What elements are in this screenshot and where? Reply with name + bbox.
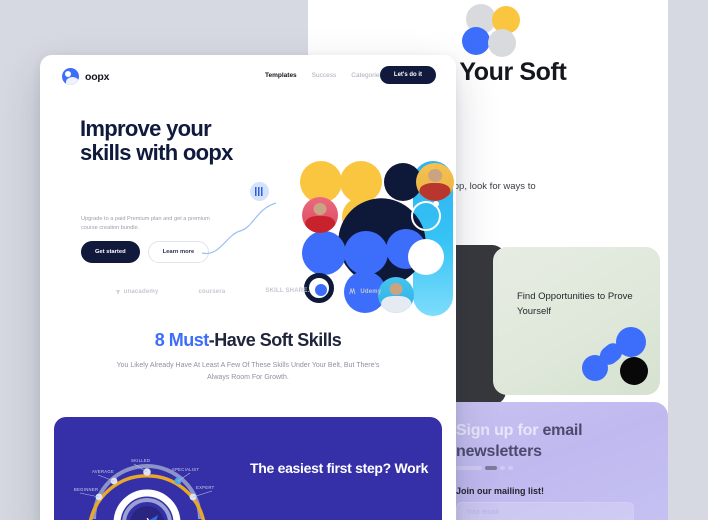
section-title-accent: 8 Must bbox=[155, 330, 209, 350]
avatar-head bbox=[428, 169, 442, 182]
collage-white-circle bbox=[408, 239, 444, 275]
gauge-label-beginner: BEGINNER bbox=[74, 487, 98, 492]
brand-logos-row: unacademy coursera SKILL SHARE. Udemy bbox=[40, 288, 456, 295]
blob-graphic bbox=[582, 327, 648, 387]
deco-circle-blue bbox=[462, 27, 490, 55]
front-landing-card: oopx Templates Success Categories Pricin… bbox=[40, 55, 456, 520]
oopx-logo-icon bbox=[62, 68, 79, 85]
newsletter-title: Sign up for email newsletters bbox=[456, 420, 651, 462]
hero-subtext: Upgrade to a paid Premium plan and get a… bbox=[81, 215, 211, 233]
collage-blue-1 bbox=[302, 231, 346, 275]
progress-dot-2 bbox=[508, 466, 513, 470]
get-started-button[interactable]: Get started bbox=[81, 241, 140, 263]
deco-circle-gray-2 bbox=[488, 29, 516, 57]
hero-title: Improve your skills with oopx bbox=[80, 117, 255, 165]
avatar-head bbox=[314, 203, 327, 215]
avatar-person-1 bbox=[416, 163, 454, 201]
gauge-label-average: AVERAGE bbox=[92, 469, 114, 474]
brand-logo-coursera: coursera bbox=[198, 288, 225, 295]
gauge-label-specialist: SPECIALIST bbox=[172, 467, 199, 472]
nav-cta-button[interactable]: Let's do it bbox=[380, 66, 436, 84]
logo[interactable]: oopx bbox=[62, 68, 109, 85]
blob-blue-top bbox=[616, 327, 646, 357]
signal-badge-icon bbox=[250, 182, 269, 201]
logo-text: oopx bbox=[85, 71, 109, 83]
avatar-person-2 bbox=[302, 197, 338, 233]
green-card-text: Find Opportunities to Prove Yourself bbox=[517, 289, 642, 319]
email-input[interactable]: Your email bbox=[456, 502, 634, 520]
brand-logo-unacademy: unacademy bbox=[115, 288, 159, 295]
collage-blue-2 bbox=[344, 231, 388, 275]
skill-gauge-graphic: BEGINNER AVERAGE SKILLED SPECIALIST EXPE… bbox=[72, 431, 222, 520]
nav-item-success[interactable]: Success bbox=[312, 72, 337, 79]
newsletter-card[interactable]: Sign up for email newsletters Join our m… bbox=[428, 402, 668, 520]
brand-logo-skillshare: SKILL SHARE. bbox=[265, 288, 309, 295]
gauge-label-skilled: SKILLED bbox=[131, 458, 150, 463]
gauge-label-expert: EXPERT bbox=[196, 485, 215, 490]
newsletter-progress-dots bbox=[456, 466, 513, 470]
decorative-circles bbox=[460, 2, 522, 60]
back-panel-body-mid: lop, look for ways to bbox=[452, 181, 536, 192]
avatar-body bbox=[305, 216, 335, 233]
section-subtitle: You Likely Already Have At Least A Few O… bbox=[113, 360, 383, 384]
green-opportunity-card[interactable]: Find Opportunities to Prove Yourself bbox=[493, 247, 660, 395]
progress-dot-1 bbox=[500, 466, 505, 470]
nav-item-templates[interactable]: Templates bbox=[265, 72, 297, 79]
unacademy-icon bbox=[115, 289, 121, 295]
brand-logo-udemy: Udemy bbox=[349, 288, 381, 295]
navbar: oopx Templates Success Categories Pricin… bbox=[40, 55, 456, 97]
progress-bar-active bbox=[485, 466, 497, 470]
avatar-body bbox=[419, 183, 450, 201]
mailing-list-label: Join our mailing list! bbox=[456, 486, 544, 496]
skill-gauge-panel: BEGINNER AVERAGE SKILLED SPECIALIST EXPE… bbox=[54, 417, 442, 520]
section-title: 8 Must-Have Soft Skills bbox=[40, 330, 456, 351]
udemy-icon bbox=[349, 288, 357, 295]
brand-logo-udemy-label: Udemy bbox=[360, 289, 381, 295]
progress-bar-segment bbox=[456, 466, 482, 470]
newsletter-title-light: Sign up for bbox=[456, 422, 542, 439]
section-title-rest: -Have Soft Skills bbox=[209, 330, 342, 350]
collage-white-dot bbox=[433, 201, 439, 207]
brand-logo-unacademy-label: unacademy bbox=[124, 289, 159, 295]
hero-buttons: Get started Learn more bbox=[81, 241, 209, 263]
squiggle-line-icon bbox=[200, 195, 285, 257]
avatar-body bbox=[381, 296, 411, 313]
blue-panel-heading: The easiest first step? Work bbox=[250, 459, 430, 478]
blob-black bbox=[620, 357, 648, 385]
avatar-person-3 bbox=[378, 277, 414, 313]
screenshot-stage: Improving Your Soft Skills identified th… bbox=[0, 0, 708, 520]
blob-blue-bottom bbox=[582, 355, 608, 381]
nav-item-categories[interactable]: Categories bbox=[351, 72, 382, 79]
